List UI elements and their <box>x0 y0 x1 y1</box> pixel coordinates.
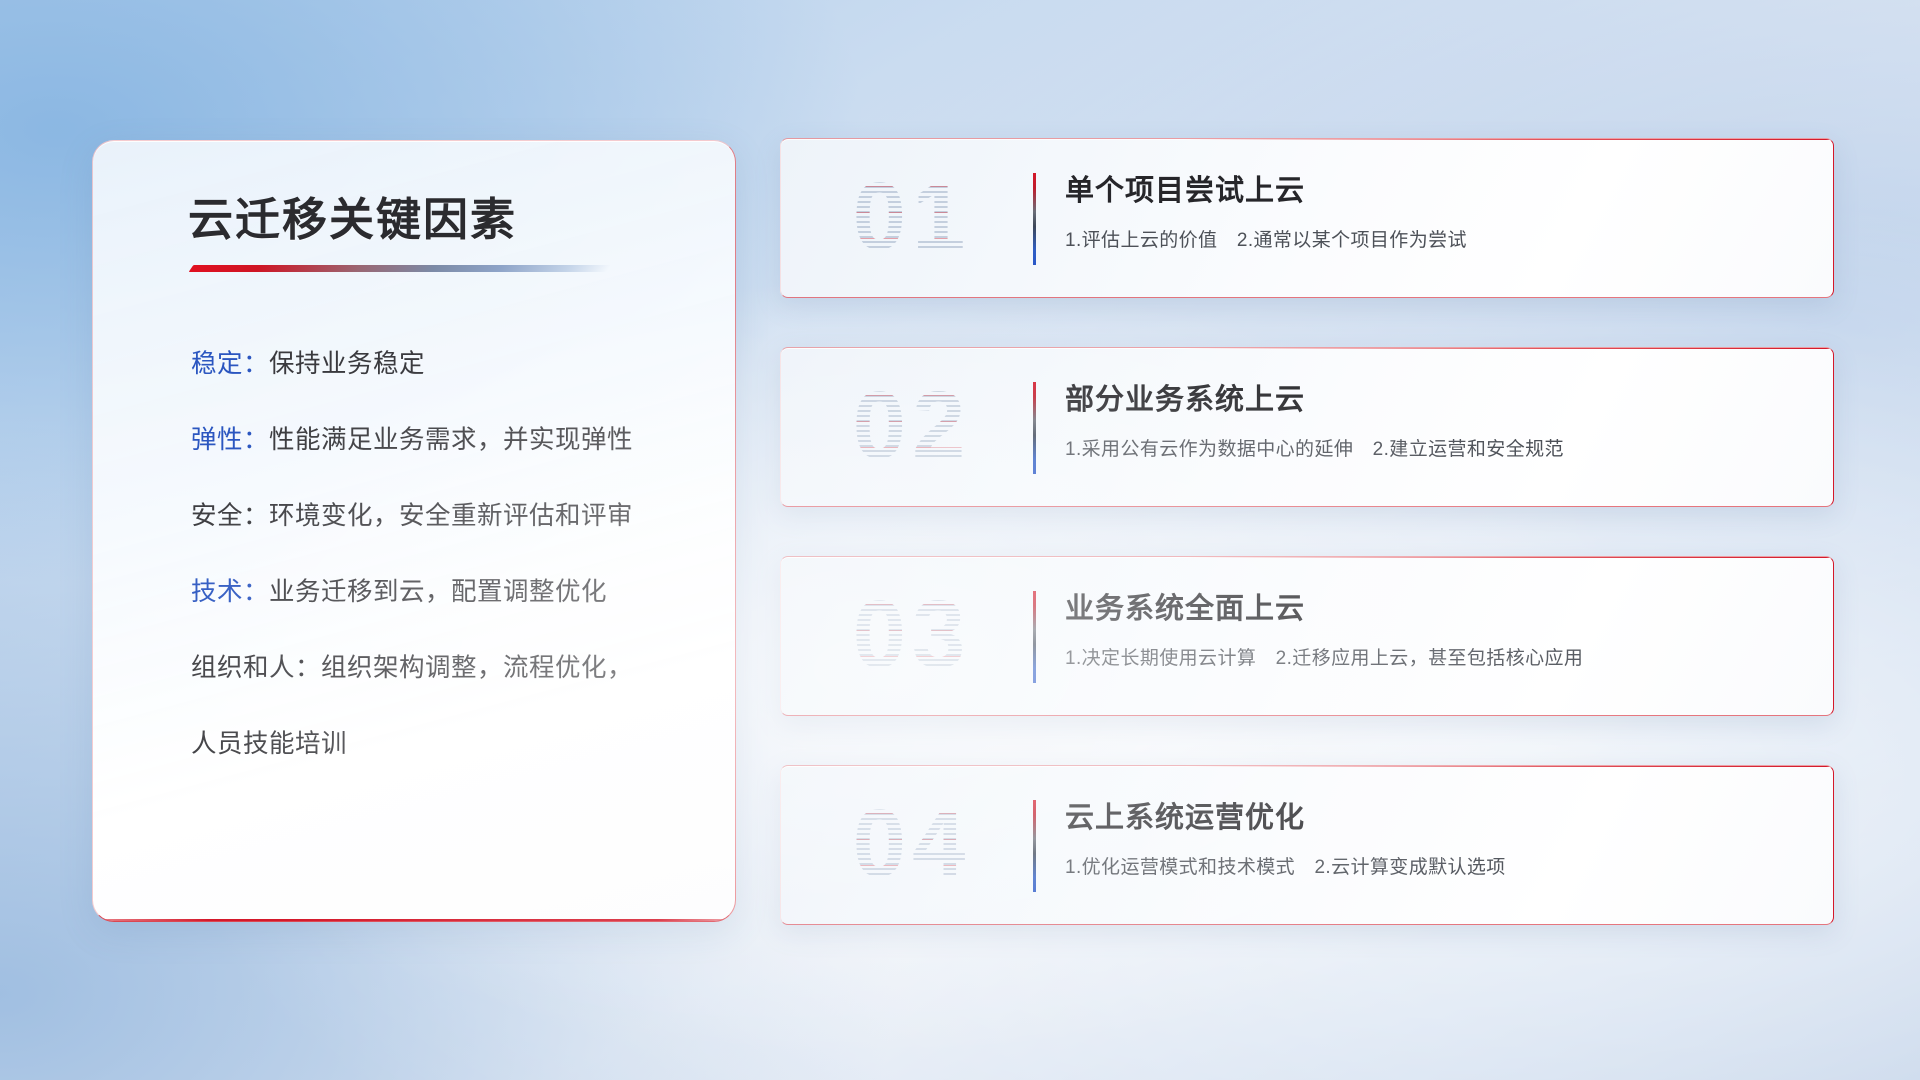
factor-label: 稳定： <box>191 350 269 378</box>
stage-number-glitch-overlay: 02 <box>807 360 1017 492</box>
title-underline-accent <box>189 265 612 272</box>
page-title: 云迁移关键因素 <box>188 183 517 248</box>
list-item: 技术：业务迁移到云，配置调整优化 <box>191 554 731 630</box>
factor-value: 保持业务稳定 <box>269 350 425 378</box>
factor-label: 技术： <box>191 578 269 606</box>
stage-card-01[interactable]: 01 01 单个项目尝试上云 1.评估上云的价值 2.通常以某个项目作为尝试 <box>780 138 1834 298</box>
list-item: 稳定：保持业务稳定 <box>191 326 731 402</box>
key-factors-list: 稳定：保持业务稳定 弹性：性能满足业务需求，并实现弹性 安全：环境变化，安全重新… <box>191 326 731 782</box>
stage-card-03[interactable]: 03 03 业务系统全面上云 1.决定长期使用云计算 2.迁移应用上云，甚至包括… <box>780 556 1834 716</box>
stage-number-glitch-overlay: 04 <box>807 778 1017 910</box>
stage-card-body: 部分业务系统上云 1.采用公有云作为数据中心的延伸 2.建立运营和安全规范 <box>1065 376 1807 461</box>
divider-accent-bar <box>1033 382 1036 474</box>
stage-card-list: 01 01 单个项目尝试上云 1.评估上云的价值 2.通常以某个项目作为尝试 0… <box>780 138 1834 974</box>
divider-accent-bar <box>1033 591 1036 683</box>
key-factors-panel: 云迁移关键因素 稳定：保持业务稳定 弹性：性能满足业务需求，并实现弹性 安全：环… <box>92 140 736 922</box>
stage-subtitle: 1.决定长期使用云计算 2.迁移应用上云，甚至包括核心应用 <box>1065 643 1807 670</box>
factor-label: 弹性： <box>191 426 269 454</box>
stage-title: 业务系统全面上云 <box>1065 585 1807 627</box>
divider-accent-bar <box>1033 173 1036 265</box>
stage-subtitle: 1.优化运营模式和技术模式 2.云计算变成默认选项 <box>1065 852 1807 879</box>
divider-accent-bar <box>1033 800 1036 892</box>
stage-card-body: 业务系统全面上云 1.决定长期使用云计算 2.迁移应用上云，甚至包括核心应用 <box>1065 585 1807 670</box>
stage-card-04[interactable]: 04 04 云上系统运营优化 1.优化运营模式和技术模式 2.云计算变成默认选项 <box>780 765 1834 925</box>
stage-card-02[interactable]: 02 02 部分业务系统上云 1.采用公有云作为数据中心的延伸 2.建立运营和安… <box>780 347 1834 507</box>
stage-subtitle: 1.采用公有云作为数据中心的延伸 2.建立运营和安全规范 <box>1065 434 1807 461</box>
factor-value: 性能满足业务需求，并实现弹性 <box>269 426 633 454</box>
factor-value: 人员技能培训 <box>191 730 347 758</box>
stage-title: 单个项目尝试上云 <box>1065 167 1807 209</box>
stage-subtitle: 1.评估上云的价值 2.通常以某个项目作为尝试 <box>1065 225 1807 252</box>
stage-card-body: 单个项目尝试上云 1.评估上云的价值 2.通常以某个项目作为尝试 <box>1065 167 1807 252</box>
list-item: 组织和人：组织架构调整，流程优化， <box>191 630 731 706</box>
factor-label: 组织和人： <box>191 654 321 682</box>
factor-value: 环境变化，安全重新评估和评审 <box>269 502 633 530</box>
list-item: 安全：环境变化，安全重新评估和评审 <box>191 478 731 554</box>
factor-value: 业务迁移到云，配置调整优化 <box>269 578 607 606</box>
stage-title: 云上系统运营优化 <box>1065 794 1807 836</box>
stage-number-glitch-overlay: 01 <box>807 151 1017 283</box>
list-item: 人员技能培训 <box>191 706 731 782</box>
stage-title: 部分业务系统上云 <box>1065 376 1807 418</box>
stage-card-body: 云上系统运营优化 1.优化运营模式和技术模式 2.云计算变成默认选项 <box>1065 794 1807 879</box>
factor-value: 组织架构调整，流程优化， <box>321 654 633 682</box>
stage-number-glitch-overlay: 03 <box>807 569 1017 701</box>
factor-label: 安全： <box>191 502 269 530</box>
list-item: 弹性：性能满足业务需求，并实现弹性 <box>191 402 731 478</box>
slide-canvas: 云迁移关键因素 稳定：保持业务稳定 弹性：性能满足业务需求，并实现弹性 安全：环… <box>0 0 1920 1080</box>
